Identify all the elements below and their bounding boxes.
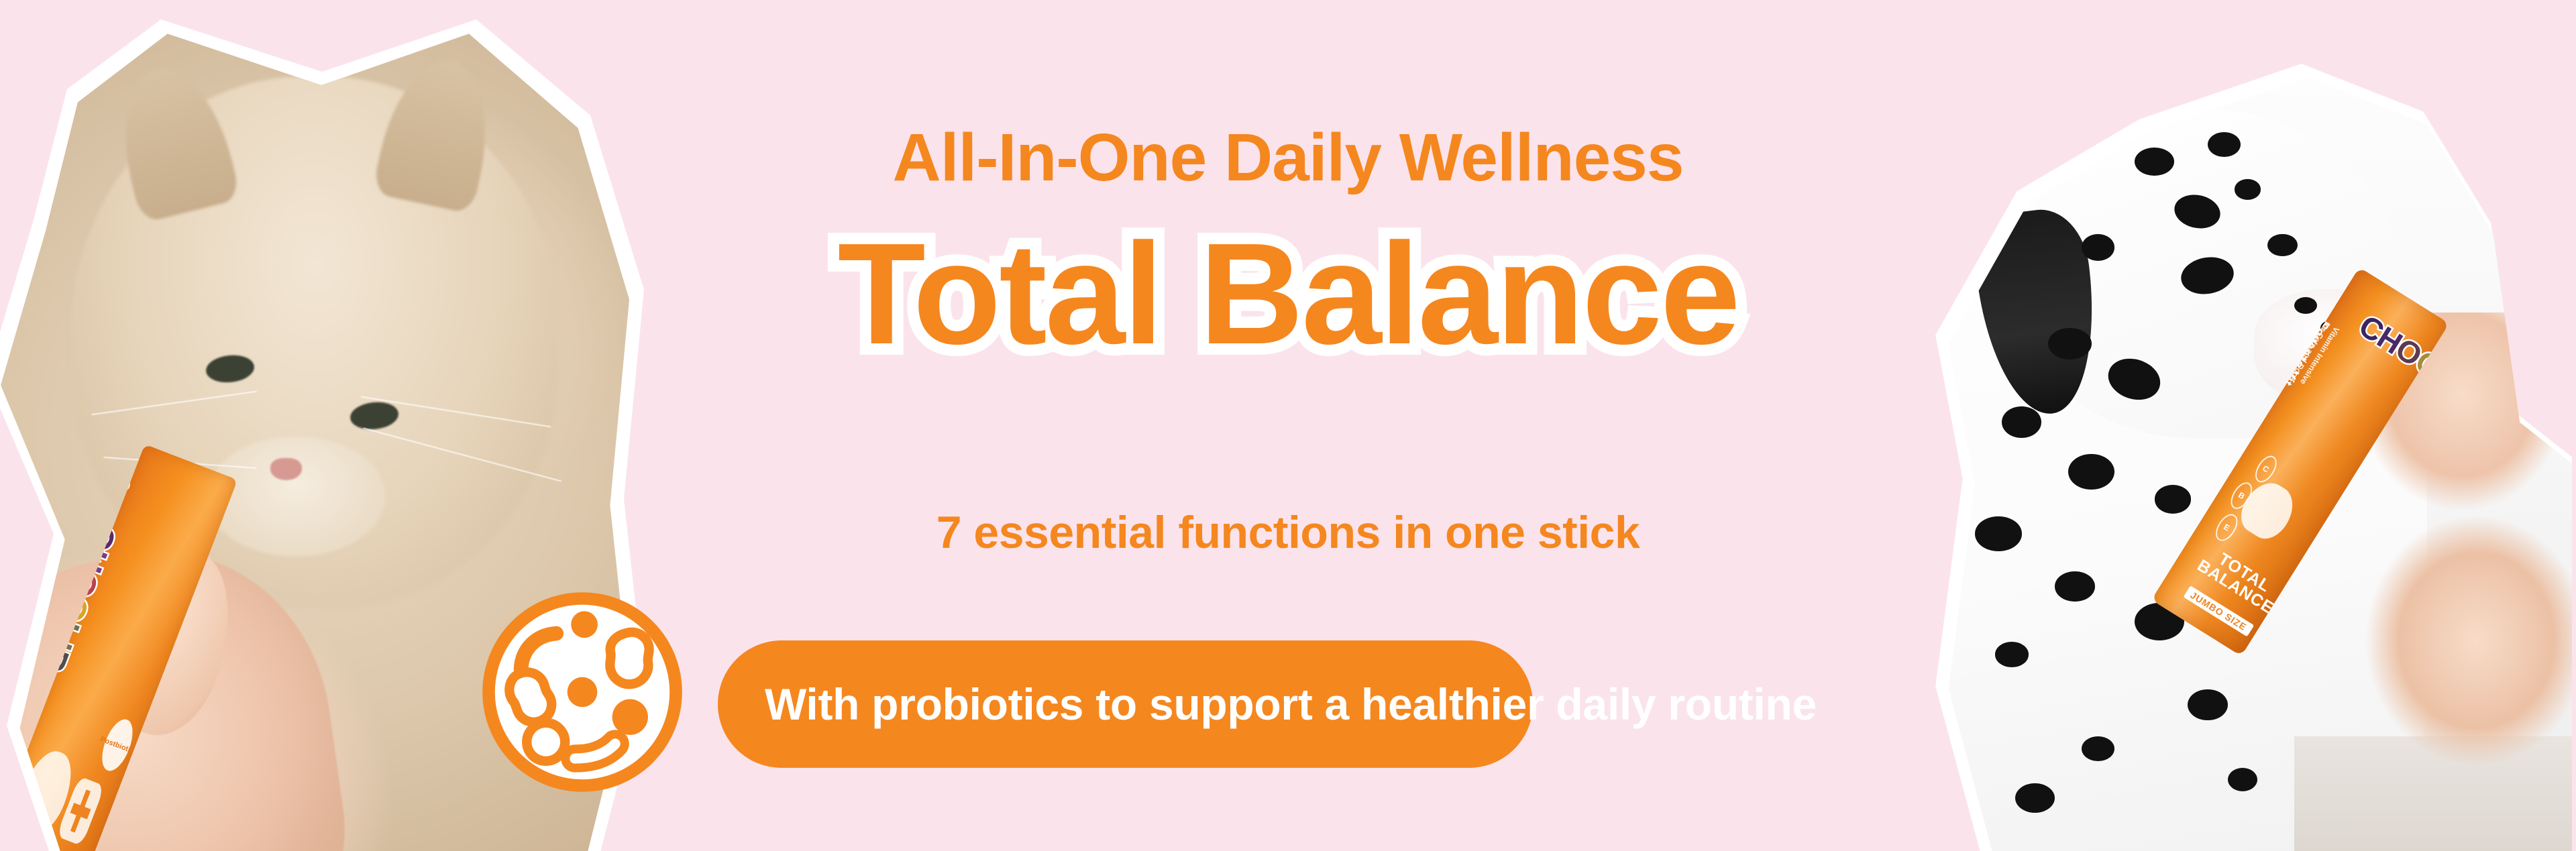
page-title: Total Balance <box>838 221 1739 365</box>
dog-spot <box>2228 768 2258 791</box>
headline-wrap: Total Balance <box>0 221 2576 365</box>
pill-label: With probiotics to support a healthier d… <box>765 679 1817 730</box>
dog-spot <box>1995 642 2029 667</box>
right-edge-fill <box>2572 0 2576 851</box>
probiotics-callout-pill: With probiotics to support a healthier d… <box>718 640 1533 768</box>
dog-spot <box>2055 571 2094 601</box>
promo-banner: Squeeze Vita CHOOLIP Postbiotic TOTAL BA… <box>0 0 2576 851</box>
dog-spot <box>2188 689 2227 721</box>
eyebrow-text: All-In-One Daily Wellness <box>0 124 2576 191</box>
probiotic-bacteria-circle-icon <box>478 588 686 796</box>
subheadline-text: 7 essential functions in one stick <box>0 510 2576 555</box>
vitamin-mark-c: C <box>2251 452 2281 486</box>
